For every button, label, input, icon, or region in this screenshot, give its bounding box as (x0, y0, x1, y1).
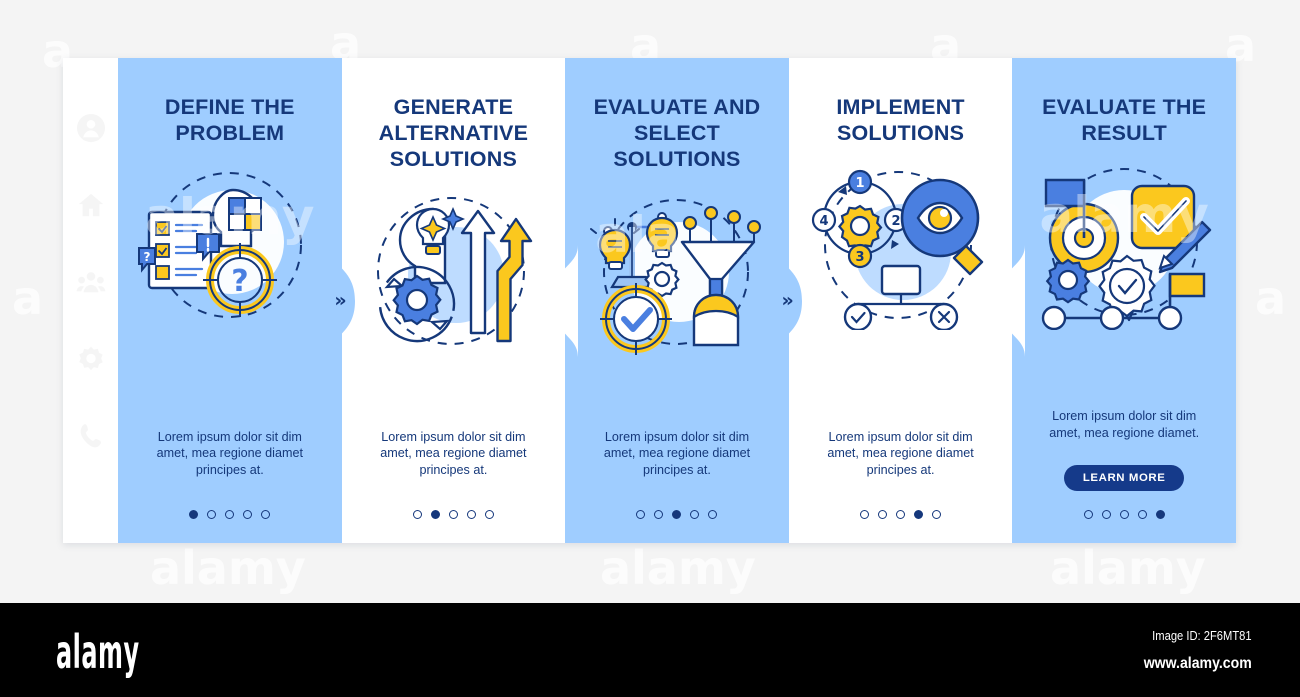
image-id-label: Image ID: 2F6MT81 (1153, 628, 1252, 643)
pagination-dot[interactable] (672, 510, 681, 519)
pagination-dot[interactable] (690, 510, 699, 519)
pagination-dot[interactable] (413, 510, 422, 519)
onboarding-card: alamy DEFINE THE PROBLEM (63, 58, 1236, 543)
pagination-dot[interactable] (654, 510, 663, 519)
panel-body-text: Lorem ipsum dolor sit dim amet, mea regi… (145, 429, 315, 479)
pagination-dot[interactable] (932, 510, 941, 519)
panel-implement-solutions[interactable]: IMPLEMENT SOLUTIONS 1 2 3 4 (789, 58, 1013, 543)
pagination-dot[interactable] (189, 510, 198, 519)
pagination-dot[interactable] (243, 510, 252, 519)
website-label: www.alamy.com (1144, 655, 1252, 673)
pagination-dots[interactable] (860, 510, 941, 519)
numbered-cycle-gear-magnifier-eye-flowchart-icon: 1 2 3 4 (808, 160, 993, 330)
pagination-dot[interactable] (431, 510, 440, 519)
panel-define-the-problem[interactable]: alamy DEFINE THE PROBLEM (118, 58, 342, 543)
stock-photo-footer: alamy Image ID: 2F6MT81 www.alamy.com (0, 603, 1300, 697)
watermark-glyph: alamy (600, 545, 756, 591)
double-chevron-right-icon: » (334, 291, 343, 310)
watermark-glyph: alamy (150, 545, 306, 591)
panel-strip: alamy DEFINE THE PROBLEM (118, 58, 1236, 543)
pagination-dots[interactable] (189, 510, 270, 519)
pagination-dot[interactable] (708, 510, 717, 519)
watermark-glyph: alamy (1050, 545, 1206, 591)
panel-title: EVALUATE AND SELECT SOLUTIONS (581, 94, 773, 173)
phone-icon[interactable] (76, 421, 106, 451)
flag-target-check-pen-gear-award-timeline-icon (1032, 160, 1217, 330)
pagination-dot[interactable] (261, 510, 270, 519)
pagination-dot[interactable] (1120, 510, 1129, 519)
svg-text:?: ? (232, 264, 249, 299)
svg-text:3: 3 (856, 250, 865, 265)
people-group-icon[interactable] (76, 267, 106, 297)
svg-text:2: 2 (892, 214, 901, 229)
panel-body-text: Lorem ipsum dolor sit dim amet, mea regi… (1039, 408, 1209, 441)
panel-evaluate-and-select-solutions[interactable]: ala EVALUATE AND SELECT SOLUTIONS (565, 58, 789, 543)
double-chevron-right-icon: » (558, 291, 567, 310)
home-icon[interactable] (76, 190, 106, 220)
gear-settings-icon[interactable] (76, 344, 106, 374)
pagination-dot[interactable] (914, 510, 923, 519)
balance-scale-funnel-check-target-icon (584, 187, 769, 357)
svg-text:?: ? (144, 250, 151, 264)
panel-generate-alternative-solutions[interactable]: GENERATE ALTERNATIVE SOLUTIONS (342, 58, 566, 543)
svg-text:1: 1 (856, 176, 865, 191)
pagination-dot[interactable] (485, 510, 494, 519)
panel-evaluate-the-result[interactable]: alamy EVALUATE THE RESULT (1012, 58, 1236, 543)
watermark-glyph: a (12, 275, 43, 321)
watermark-glyph: a (1255, 275, 1286, 321)
panel-title: DEFINE THE PROBLEM (134, 94, 326, 146)
pagination-dot[interactable] (636, 510, 645, 519)
checklist-head-puzzle-question-target-icon: ? ? (137, 160, 322, 330)
pagination-dots[interactable] (1084, 510, 1165, 519)
panel-title: IMPLEMENT SOLUTIONS (805, 94, 997, 146)
pagination-dot[interactable] (1156, 510, 1165, 519)
user-avatar-icon[interactable] (76, 113, 106, 143)
panel-body-text: Lorem ipsum dolor sit dim amet, mea regi… (816, 429, 986, 479)
pagination-dot[interactable] (449, 510, 458, 519)
pagination-dot[interactable] (225, 510, 234, 519)
panel-title: EVALUATE THE RESULT (1028, 94, 1220, 146)
svg-text:4: 4 (820, 214, 829, 229)
pagination-dot[interactable] (1138, 510, 1147, 519)
alamy-logo: alamy (56, 625, 140, 679)
lightbulb-head-gear-arrows-icon (361, 187, 546, 357)
panel-title: GENERATE ALTERNATIVE SOLUTIONS (358, 94, 550, 173)
sidebar (63, 58, 118, 543)
pagination-dot[interactable] (896, 510, 905, 519)
pagination-dots[interactable] (413, 510, 494, 519)
pagination-dots[interactable] (636, 510, 717, 519)
pagination-dot[interactable] (860, 510, 869, 519)
pagination-dot[interactable] (207, 510, 216, 519)
pagination-dot[interactable] (1102, 510, 1111, 519)
pagination-dot[interactable] (1084, 510, 1093, 519)
double-chevron-right-icon: » (1005, 291, 1014, 310)
learn-more-button[interactable]: LEARN MORE (1064, 465, 1185, 491)
double-chevron-right-icon: » (782, 291, 791, 310)
panel-body-text: Lorem ipsum dolor sit dim amet, mea regi… (592, 429, 762, 479)
pagination-dot[interactable] (878, 510, 887, 519)
pagination-dot[interactable] (467, 510, 476, 519)
panel-body-text: Lorem ipsum dolor sit dim amet, mea regi… (368, 429, 538, 479)
